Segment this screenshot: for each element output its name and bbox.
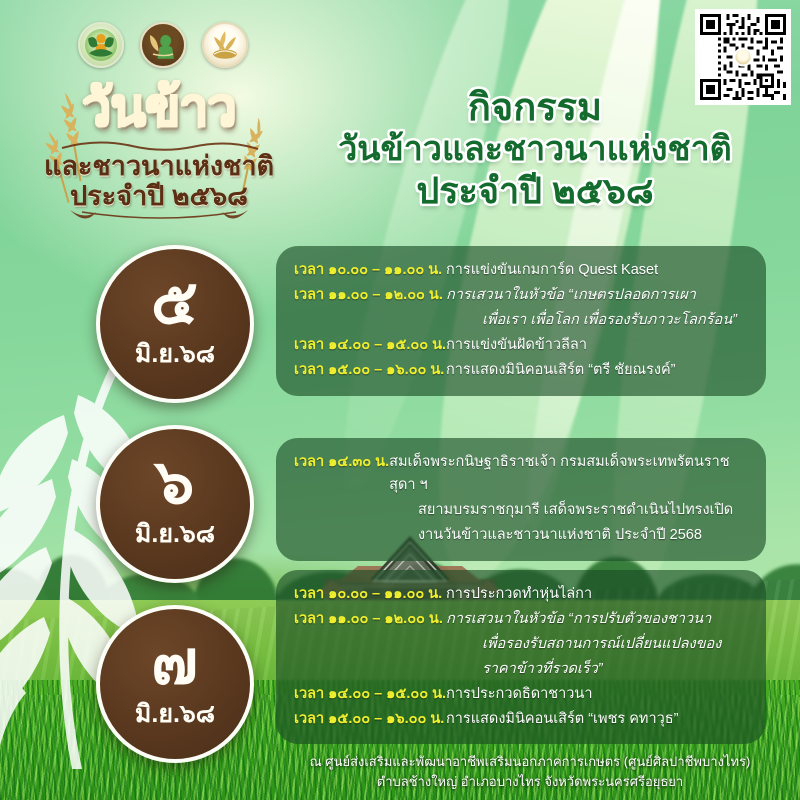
date-badge-month: มิ.ย.๖๘ [135, 514, 215, 554]
schedule-description-continued: งานวันข้าวและชาวนาแห่งชาติ ประจำปี 2568 [382, 524, 702, 547]
schedule-row: เวลา ๑๔.๐๐ – ๑๕.๐๐ น. การประกวดธิดาชาวนา [294, 683, 750, 706]
schedule-time: เวลา ๑๐.๐๐ – ๑๑.๐๐ น. [294, 259, 446, 282]
schedule-row-continuation: เพื่อรองรับสถานการณ์เปลี่ยนแปลงของ [294, 633, 750, 656]
poster-canvas: วันข้าว และชาวนาแห่งชาติ ประจำปี ๒๕๖๘ [0, 0, 800, 800]
heading-line3: ประจำปี ๒๕๖๘ [300, 170, 770, 212]
schedule-time: เวลา ๑๔.๓๐ น. [294, 451, 389, 474]
schedule-panel-day3: เวลา ๑๐.๐๐ – ๑๑.๐๐ น. การประกวดทำหุ่นไล่… [276, 570, 766, 744]
schedule-row: เวลา ๑๐.๐๐ – ๑๑.๐๐ น. การประกวดทำหุ่นไล่… [294, 583, 750, 606]
schedule-description-continued: เพื่อเรา เพื่อโลก เพื่อรองรับภาวะโลกร้อน… [446, 309, 737, 332]
schedule-description-continued: สยามบรมราชกุมารี เสด็จพระราชดำเนินไปทรงเ… [382, 499, 733, 522]
schedule-time: เวลา ๑๐.๐๐ – ๑๑.๐๐ น. [294, 583, 446, 606]
schedule-description: สมเด็จพระกนิษฐาธิราชเจ้า กรมสมเด็จพระเทพ… [389, 451, 750, 497]
date-badge-day2: ๖ มิ.ย.๖๘ [96, 425, 254, 583]
rice-department-emblem [202, 22, 248, 68]
schedule-row-continuation: สยามบรมราชกุมารี เสด็จพระราชดำเนินไปทรงเ… [294, 499, 750, 522]
qr-center-logo [734, 48, 753, 67]
schedule-row: เวลา ๑๑.๐๐ – ๑๒.๐๐ น. การเสวนาในหัวข้อ “… [294, 608, 750, 631]
schedule-row: เวลา ๑๔.๓๐ น. สมเด็จพระกนิษฐาธิราชเจ้า ก… [294, 451, 750, 497]
venue-footer: ณ ศูนย์ส่งเสริมและพัฒนาอาชีพเสริมนอกภาคก… [280, 752, 780, 791]
date-badge-month: มิ.ย.๖๘ [135, 694, 215, 734]
schedule-time: เวลา ๑๕.๐๐ – ๑๖.๐๐ น. [294, 359, 446, 382]
schedule-description-continued: ราคาข้าวที่รวดเร็ว” [446, 658, 603, 681]
date-badge-day3: ๗ มิ.ย.๖๘ [96, 605, 254, 763]
schedule-description: การเสวนาในหัวข้อ “การปรับตัวของชาวนา [446, 608, 711, 631]
schedule-row: เวลา ๑๕.๐๐ – ๑๖.๐๐ น. การแสดงมินิคอนเสิร… [294, 708, 750, 731]
date-badge-numeral: ๕ [151, 274, 199, 331]
schedule-time: เวลา ๑๔.๐๐ – ๑๕.๐๐ น. [294, 334, 446, 357]
venue-line2: ตำบลช้างใหญ่ อำเภอบางไทร จังหวัดพระนครศร… [280, 772, 780, 792]
date-badge-numeral: ๗ [151, 634, 199, 691]
heading-line2: วันข้าวและชาวนาแห่งชาติ [300, 130, 770, 169]
page-title: กิจกรรม วันข้าวและชาวนาแห่งชาติ ประจำปี … [300, 86, 770, 211]
schedule-row: เวลา ๑๕.๐๐ – ๑๖.๐๐ น. การแสดงมินิคอนเสิร… [294, 359, 750, 382]
schedule-description: การแสดงมินิคอนเสิร์ต “ตรี ชัยณรงค์” [446, 359, 675, 382]
schedule-row: เวลา ๑๑.๐๐ – ๑๒.๐๐ น. การเสวนาในหัวข้อ “… [294, 284, 750, 307]
schedule-description: การแข่งขันฝัดข้าวลีลา [446, 334, 587, 357]
schedule-time: เวลา ๑๕.๐๐ – ๑๖.๐๐ น. [294, 708, 446, 731]
schedule-description-continued: เพื่อรองรับสถานการณ์เปลี่ยนแปลงของ [446, 633, 721, 656]
date-badge-day1: ๕ มิ.ย.๖๘ [96, 245, 254, 403]
organizer-logos [78, 22, 248, 68]
schedule-row: เวลา ๑๐.๐๐ – ๑๑.๐๐ น. การแข่งขันเกมการ์ด… [294, 259, 750, 282]
schedule-description: การประกวดทำหุ่นไล่กา [446, 583, 592, 606]
schedule-description: การแสดงมินิคอนเสิร์ต “เพชร คทาวุธ” [446, 708, 678, 731]
schedule-panel-day1: เวลา ๑๐.๐๐ – ๑๑.๐๐ น. การแข่งขันเกมการ์ด… [276, 246, 766, 396]
brand-title-line2: และชาวนาแห่งชาติ [34, 152, 284, 180]
schedule-time: เวลา ๑๑.๐๐ – ๑๒.๐๐ น. [294, 284, 446, 307]
schedule-row-continuation: งานวันข้าวและชาวนาแห่งชาติ ประจำปี 2568 [294, 524, 750, 547]
heading-line1: กิจกรรม [300, 86, 770, 130]
date-badge-month: มิ.ย.๖๘ [135, 334, 215, 374]
schedule-row-continuation: ราคาข้าวที่รวดเร็ว” [294, 658, 750, 681]
schedule-time: เวลา ๑๑.๐๐ – ๑๒.๐๐ น. [294, 608, 446, 631]
schedule-row: เวลา ๑๔.๐๐ – ๑๕.๐๐ น. การแข่งขันฝัดข้าวล… [294, 334, 750, 357]
schedule-row-continuation: เพื่อเรา เพื่อโลก เพื่อรองรับภาวะโลกร้อน… [294, 309, 750, 332]
ministry-of-agriculture-emblem [78, 22, 124, 68]
event-logo-lockup: วันข้าว และชาวนาแห่งชาติ ประจำปี ๒๕๖๘ [34, 80, 284, 220]
schedule-description: การเสวนาในหัวข้อ “เกษตรปลอดการเผา [446, 284, 696, 307]
brand-title-line1: วันข้าว [34, 82, 284, 134]
schedule-time: เวลา ๑๔.๐๐ – ๑๕.๐๐ น. [294, 683, 446, 706]
date-badge-numeral: ๖ [155, 454, 195, 511]
schedule-description: การแข่งขันเกมการ์ด Quest Kaset [446, 259, 658, 282]
schedule-panel-day2: เวลา ๑๔.๓๐ น. สมเด็จพระกนิษฐาธิราชเจ้า ก… [276, 438, 766, 561]
rice-day-event-emblem [140, 22, 186, 68]
schedule-description: การประกวดธิดาชาวนา [446, 683, 592, 706]
venue-line1: ณ ศูนย์ส่งเสริมและพัฒนาอาชีพเสริมนอกภาคก… [280, 752, 780, 772]
brand-title-line3: ประจำปี ๒๕๖๘ [34, 182, 284, 210]
